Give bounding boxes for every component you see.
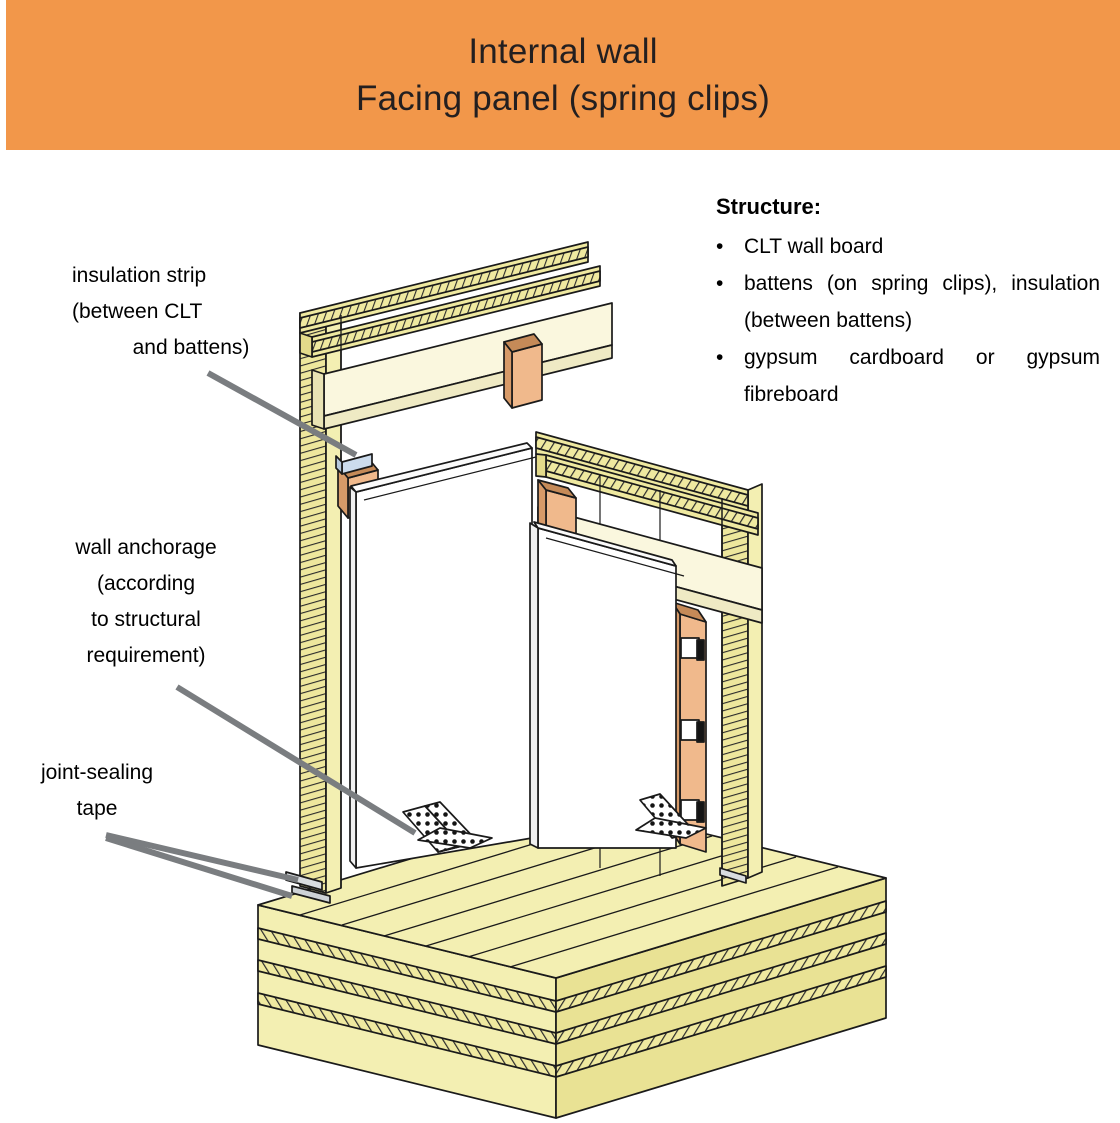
structure-panel: Structure: • CLT wall board • battens (o… <box>716 194 1100 413</box>
label-insulation-strip-line-3: and battens) <box>72 330 310 366</box>
structure-list-item-label: battens (on spring clips), insulation (b… <box>744 265 1100 339</box>
bullet-icon: • <box>716 228 744 265</box>
label-insulation-strip: insulation strip (between CLT and batten… <box>72 258 310 366</box>
label-wall-anchorage-line-2: (according <box>42 566 250 602</box>
bullet-icon: • <box>716 339 744 376</box>
label-joint-sealing-tape: joint-sealing tape <box>8 755 186 827</box>
label-wall-anchorage-line-1: wall anchorage <box>42 530 250 566</box>
label-joint-sealing-tape-line-2: tape <box>8 791 186 827</box>
structure-list: • CLT wall board • battens (on spring cl… <box>716 228 1100 413</box>
structure-list-item-label: gypsum cardboard or gypsum fibreboard <box>744 339 1100 413</box>
structure-list-item-label: CLT wall board <box>744 228 1100 265</box>
label-wall-anchorage-line-3: to structural <box>42 602 250 638</box>
structure-list-item: • CLT wall board <box>716 228 1100 265</box>
structure-heading: Structure: <box>716 194 1100 220</box>
leader-joint-tape-1 <box>106 835 298 880</box>
label-insulation-strip-line-2: (between CLT <box>72 294 310 330</box>
spring-clip <box>681 638 704 660</box>
label-wall-anchorage-line-4: requirement) <box>42 638 250 674</box>
label-wall-anchorage: wall anchorage (according to structural … <box>42 530 250 674</box>
spring-clip <box>681 720 704 742</box>
leader-joint-tape-2 <box>106 838 292 896</box>
bullet-icon: • <box>716 265 744 302</box>
batten-left-top-right <box>504 334 542 408</box>
label-insulation-strip-line-1: insulation strip <box>72 258 310 294</box>
gypsum-facing-panel-left <box>350 443 540 868</box>
label-joint-sealing-tape-line-1: joint-sealing <box>8 755 186 791</box>
spring-clip <box>681 800 704 822</box>
structure-list-item: • battens (on spring clips), insulation … <box>716 265 1100 339</box>
page-root: Internal wall Facing panel (spring clips… <box>0 0 1120 1123</box>
structure-list-item: • gypsum cardboard or gypsum fibreboard <box>716 339 1100 413</box>
